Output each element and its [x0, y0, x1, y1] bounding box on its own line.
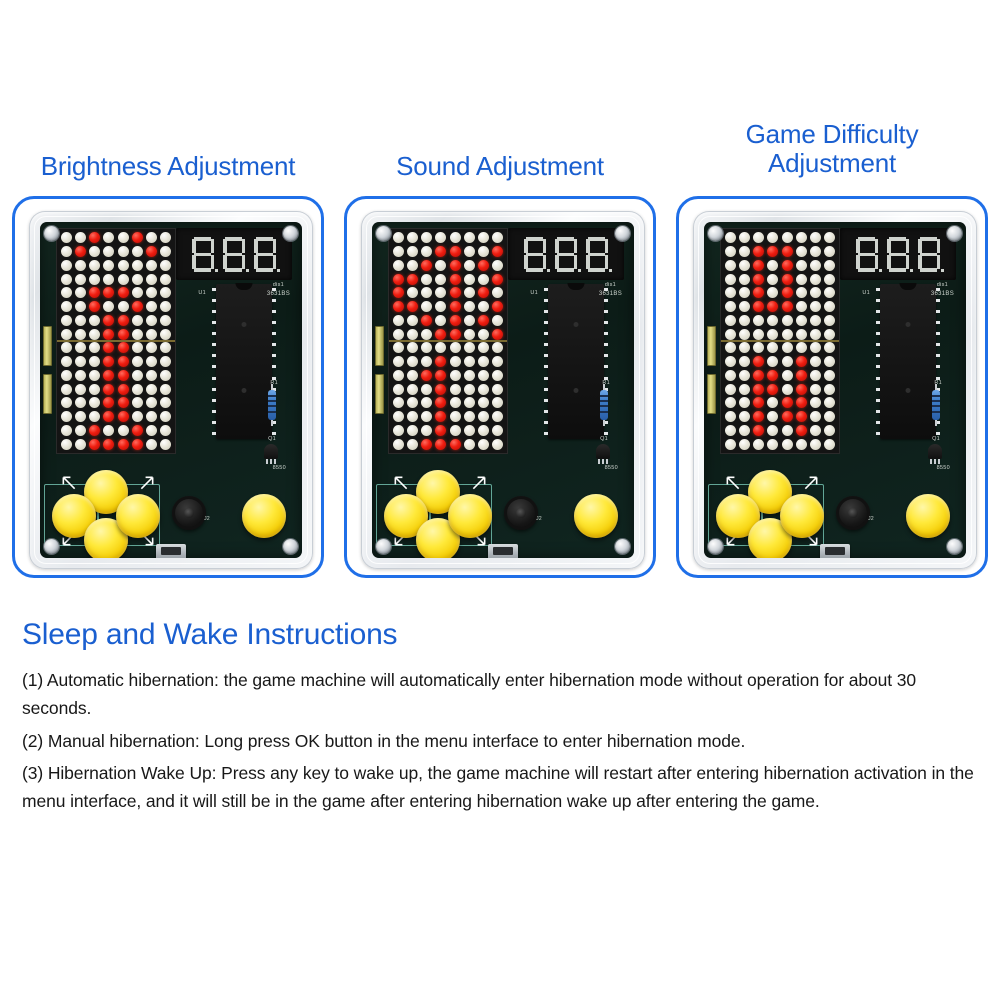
usb-port-2[interactable]: [820, 544, 850, 558]
led-r14c4: [116, 424, 130, 438]
seven-segment-digit-1: [553, 235, 579, 273]
seven-segment-bar: [937, 239, 941, 253]
led-r13c5: [130, 410, 144, 424]
led-r4c7: [491, 286, 505, 300]
led-r0c5: [794, 231, 808, 245]
led-r4c3: [102, 286, 116, 300]
led-r0c4: [448, 231, 462, 245]
led-r2c0: [723, 259, 737, 273]
seven-segment-bar: [605, 255, 609, 269]
led-r10c4: [780, 369, 794, 383]
led-r5c0: [391, 300, 405, 314]
led-r3c3: [766, 272, 780, 286]
led-r1c7: [491, 245, 505, 259]
led-r3c1: [405, 272, 419, 286]
led-r10c4: [116, 369, 130, 383]
usb-port-1[interactable]: [488, 544, 518, 558]
led-r12c2: [752, 396, 766, 410]
seven-segment-bar: [887, 239, 891, 253]
led-r11c1: [737, 382, 751, 396]
led-r6c6: [809, 314, 823, 328]
led-r1c5: [794, 245, 808, 259]
led-r15c2: [88, 437, 102, 451]
led-r1c0: [723, 245, 737, 259]
case-screw-top-right: [283, 226, 298, 241]
led-r4c6: [809, 286, 823, 300]
led-r13c0: [391, 410, 405, 424]
led-r12c3: [102, 396, 116, 410]
seven-segment-bar: [526, 253, 543, 257]
led-r7c6: [145, 327, 159, 341]
led-r6c4: [448, 314, 462, 328]
instruction-paragraph-1: (1) Automatic hibernation: the game mach…: [22, 666, 980, 723]
led-r6c2: [752, 314, 766, 328]
led-r4c0: [391, 286, 405, 300]
led-r9c5: [130, 355, 144, 369]
led-r5c2: [420, 300, 434, 314]
led-r11c7: [823, 382, 837, 396]
transistor-q1: [928, 444, 942, 459]
seven-segment-bar: [918, 255, 922, 269]
led-r13c0: [59, 410, 73, 424]
led-r4c2: [88, 286, 102, 300]
led-r3c0: [391, 272, 405, 286]
led-r7c4: [780, 327, 794, 341]
led-r7c6: [809, 327, 823, 341]
label-transistor-part: 8550: [937, 465, 950, 471]
led-r8c7: [159, 341, 173, 355]
dpad-right-button-0[interactable]: [116, 494, 160, 538]
led-r10c3: [766, 369, 780, 383]
led-r15c7: [159, 437, 173, 451]
led-r4c0: [59, 286, 73, 300]
label-transistor-ref: Q1: [932, 436, 940, 442]
led-r4c1: [73, 286, 87, 300]
led-r4c4: [448, 286, 462, 300]
led-matrix-sound: [388, 228, 508, 454]
device-frame-0: dis1 3631BS U1 R1 Q1: [12, 196, 324, 578]
seven-segment-bar: [586, 239, 590, 253]
seven-segment-display-0: [176, 228, 292, 280]
product-infographic: Brightness Adjustment dis1 3631BS: [0, 0, 1000, 1000]
led-r14c2: [752, 424, 766, 438]
led-r15c5: [794, 437, 808, 451]
label-ic-ref: U1: [198, 290, 206, 296]
led-r8c4: [116, 341, 130, 355]
led-r9c7: [491, 355, 505, 369]
seven-segment-bar: [586, 255, 590, 269]
led-r13c3: [102, 410, 116, 424]
edge-connector-strip-2: [375, 374, 384, 414]
led-r9c6: [809, 355, 823, 369]
seven-segment-bar: [524, 255, 528, 269]
led-r7c1: [405, 327, 419, 341]
led-r1c2: [752, 245, 766, 259]
led-r7c7: [491, 327, 505, 341]
led-r12c2: [88, 396, 102, 410]
led-r5c1: [405, 300, 419, 314]
led-r3c4: [116, 272, 130, 286]
led-r2c0: [391, 259, 405, 273]
label-resistor-ref: R1: [934, 380, 942, 386]
led-r6c1: [737, 314, 751, 328]
seven-segment-bar: [192, 239, 196, 253]
label-ic-ref: U1: [862, 290, 870, 296]
seven-segment-bar: [194, 253, 211, 257]
led-r12c5: [462, 396, 476, 410]
case-screw-bottom-right: [615, 539, 630, 554]
led-r12c5: [130, 396, 144, 410]
led-r13c6: [145, 410, 159, 424]
led-r5c6: [477, 300, 491, 314]
led-r6c7: [823, 314, 837, 328]
led-r11c4: [448, 382, 462, 396]
led-r2c2: [752, 259, 766, 273]
led-r2c4: [780, 259, 794, 273]
usb-port-0[interactable]: [156, 544, 186, 558]
ic-marking-dot: [574, 322, 579, 327]
seven-segment-bar: [526, 268, 543, 272]
led-r12c1: [405, 396, 419, 410]
label-usb-ref: J2: [868, 516, 874, 522]
seven-segment-bar: [254, 255, 258, 269]
led-r6c6: [145, 314, 159, 328]
led-r0c4: [780, 231, 794, 245]
led-r1c6: [145, 245, 159, 259]
led-r7c0: [391, 327, 405, 341]
led-r13c7: [823, 410, 837, 424]
led-r6c7: [491, 314, 505, 328]
led-r13c4: [116, 410, 130, 424]
led-r1c0: [59, 245, 73, 259]
pcb-board-0: dis1 3631BS U1 R1 Q1: [40, 222, 302, 558]
led-r2c6: [809, 259, 823, 273]
led-r11c5: [794, 382, 808, 396]
seven-segment-bar: [574, 239, 578, 253]
led-r11c5: [130, 382, 144, 396]
led-r2c6: [477, 259, 491, 273]
edge-connector-strip-1: [707, 326, 716, 366]
led-r7c7: [823, 327, 837, 341]
buzzer-speaker-2: [836, 496, 870, 530]
led-r10c2: [752, 369, 766, 383]
led-r10c3: [102, 369, 116, 383]
led-r4c0: [723, 286, 737, 300]
led-r1c7: [159, 245, 173, 259]
seven-segment-bar: [225, 253, 242, 257]
led-r7c3: [766, 327, 780, 341]
led-r4c2: [420, 286, 434, 300]
led-r9c7: [159, 355, 173, 369]
led-r10c5: [794, 369, 808, 383]
led-r5c3: [102, 300, 116, 314]
seven-segment-bar: [194, 237, 211, 241]
led-r2c2: [420, 259, 434, 273]
led-r0c1: [405, 231, 419, 245]
led-r2c3: [434, 259, 448, 273]
led-r10c0: [59, 369, 73, 383]
led-r3c6: [145, 272, 159, 286]
led-r14c1: [73, 424, 87, 438]
led-r8c7: [491, 341, 505, 355]
seven-segment-bar: [588, 237, 605, 241]
led-r8c0: [391, 341, 405, 355]
seven-segment-bar: [906, 255, 910, 269]
led-r10c4: [448, 369, 462, 383]
led-r15c1: [405, 437, 419, 451]
seven-segment-digit-2: [916, 235, 942, 273]
led-r1c5: [130, 245, 144, 259]
led-r15c1: [737, 437, 751, 451]
led-r14c2: [420, 424, 434, 438]
led-r12c0: [391, 396, 405, 410]
led-r4c5: [794, 286, 808, 300]
led-r15c2: [752, 437, 766, 451]
led-r4c5: [130, 286, 144, 300]
led-r7c3: [102, 327, 116, 341]
led-r6c3: [766, 314, 780, 328]
led-r0c0: [723, 231, 737, 245]
led-r11c3: [102, 382, 116, 396]
led-r0c0: [391, 231, 405, 245]
led-r2c1: [405, 259, 419, 273]
label-display-ref: dis1: [937, 282, 948, 288]
led-r5c3: [766, 300, 780, 314]
led-r8c2: [88, 341, 102, 355]
led-r5c7: [491, 300, 505, 314]
led-r6c5: [130, 314, 144, 328]
case-screw-bottom-left: [44, 539, 59, 554]
seven-segment-bar: [588, 253, 605, 257]
label-transistor-ref: Q1: [268, 436, 276, 442]
led-r2c6: [145, 259, 159, 273]
seven-segment-bar: [223, 255, 227, 269]
led-r6c2: [88, 314, 102, 328]
led-r11c6: [809, 382, 823, 396]
led-r0c4: [116, 231, 130, 245]
case-screw-bottom-right: [283, 539, 298, 554]
led-r13c4: [780, 410, 794, 424]
ic-notch-icon: [236, 283, 253, 290]
led-r9c5: [462, 355, 476, 369]
led-r9c0: [391, 355, 405, 369]
device-frame-2: dis1 3631BS U1 R1 Q1: [676, 196, 988, 578]
led-r2c2: [88, 259, 102, 273]
led-r13c6: [477, 410, 491, 424]
led-r0c5: [462, 231, 476, 245]
led-r4c6: [145, 286, 159, 300]
seven-segment-bar: [557, 237, 574, 241]
led-r3c4: [780, 272, 794, 286]
led-r10c0: [391, 369, 405, 383]
led-r2c5: [462, 259, 476, 273]
led-r1c7: [823, 245, 837, 259]
transistor-q1: [264, 444, 278, 459]
led-r5c7: [159, 300, 173, 314]
seven-segment-bar: [856, 239, 860, 253]
seven-segment-bar: [256, 268, 273, 272]
led-r12c4: [116, 396, 130, 410]
led-r5c5: [462, 300, 476, 314]
seven-segment-digit-2: [584, 235, 610, 273]
led-r8c1: [73, 341, 87, 355]
case-screw-top-right: [947, 226, 962, 241]
led-r12c7: [491, 396, 505, 410]
label-transistor-part: 8550: [273, 465, 286, 471]
led-r6c0: [59, 314, 73, 328]
led-r5c4: [448, 300, 462, 314]
seven-segment-decimal-point: [879, 269, 883, 273]
seven-segment-bar: [920, 253, 937, 257]
led-r3c1: [73, 272, 87, 286]
acrylic-case-1: dis1 3631BS U1 R1 Q1: [361, 211, 645, 569]
led-r12c6: [477, 396, 491, 410]
led-r8c3: [766, 341, 780, 355]
led-r5c7: [823, 300, 837, 314]
seven-segment-bar: [557, 268, 574, 272]
ok-button-2[interactable]: [906, 494, 950, 538]
seven-segment-bar: [918, 239, 922, 253]
led-r13c1: [405, 410, 419, 424]
led-r6c1: [73, 314, 87, 328]
led-r13c2: [420, 410, 434, 424]
seven-segment-bar: [574, 255, 578, 269]
led-r9c3: [766, 355, 780, 369]
led-r4c6: [477, 286, 491, 300]
led-r8c2: [752, 341, 766, 355]
led-r12c3: [766, 396, 780, 410]
led-r10c2: [420, 369, 434, 383]
led-r12c6: [809, 396, 823, 410]
led-r1c6: [809, 245, 823, 259]
case-screw-top-left: [708, 226, 723, 241]
seven-segment-decimal-point: [547, 269, 551, 273]
led-r1c2: [88, 245, 102, 259]
led-r13c7: [491, 410, 505, 424]
led-r10c2: [88, 369, 102, 383]
led-r14c7: [823, 424, 837, 438]
led-r2c7: [159, 259, 173, 273]
seven-segment-bar: [557, 253, 574, 257]
led-r0c3: [766, 231, 780, 245]
led-r14c4: [780, 424, 794, 438]
led-r0c2: [752, 231, 766, 245]
led-r14c6: [809, 424, 823, 438]
ok-button-0[interactable]: [242, 494, 286, 538]
seven-segment-bar: [225, 268, 242, 272]
acrylic-case-2: dis1 3631BS U1 R1 Q1: [693, 211, 977, 569]
led-r12c7: [159, 396, 173, 410]
seven-segment-bar: [889, 253, 906, 257]
led-r9c6: [145, 355, 159, 369]
seven-segment-bar: [889, 237, 906, 241]
led-r10c1: [405, 369, 419, 383]
led-r0c7: [159, 231, 173, 245]
panel-title-2: Game Difficulty Adjustment: [672, 120, 992, 178]
led-r11c3: [434, 382, 448, 396]
led-r7c4: [116, 327, 130, 341]
led-r7c5: [794, 327, 808, 341]
led-r9c3: [434, 355, 448, 369]
case-screw-bottom-left: [376, 539, 391, 554]
led-r13c3: [434, 410, 448, 424]
led-r1c0: [391, 245, 405, 259]
led-r9c0: [723, 355, 737, 369]
ok-button-1[interactable]: [574, 494, 618, 538]
seven-segment-bar: [242, 239, 246, 253]
seven-segment-bar: [588, 268, 605, 272]
led-r2c5: [794, 259, 808, 273]
seven-segment-bar: [543, 239, 547, 253]
microcontroller-ic-1: [548, 284, 604, 439]
led-r1c1: [737, 245, 751, 259]
led-r9c3: [102, 355, 116, 369]
led-r5c5: [130, 300, 144, 314]
seven-segment-decimal-point: [941, 269, 945, 273]
led-r7c1: [737, 327, 751, 341]
instructions-heading: Sleep and Wake Instructions: [22, 618, 980, 652]
led-r12c7: [823, 396, 837, 410]
led-r15c7: [823, 437, 837, 451]
led-r9c4: [116, 355, 130, 369]
acrylic-case-0: dis1 3631BS U1 R1 Q1: [29, 211, 313, 569]
edge-connector-strip-2: [707, 374, 716, 414]
led-r13c4: [448, 410, 462, 424]
led-r8c5: [794, 341, 808, 355]
seven-segment-bar: [194, 268, 211, 272]
led-r8c1: [737, 341, 751, 355]
led-r12c3: [434, 396, 448, 410]
led-r14c1: [737, 424, 751, 438]
label-display-part: 3631BS: [599, 291, 622, 297]
dpad-right-button-2[interactable]: [780, 494, 824, 538]
led-r14c5: [462, 424, 476, 438]
led-r2c4: [448, 259, 462, 273]
led-r8c4: [780, 341, 794, 355]
led-r10c3: [434, 369, 448, 383]
led-r8c0: [59, 341, 73, 355]
led-r11c0: [391, 382, 405, 396]
dpad-right-button-1[interactable]: [448, 494, 492, 538]
led-r6c4: [780, 314, 794, 328]
led-r1c4: [448, 245, 462, 259]
led-r15c2: [420, 437, 434, 451]
led-r14c5: [794, 424, 808, 438]
led-r0c3: [434, 231, 448, 245]
led-r11c2: [88, 382, 102, 396]
led-r7c2: [88, 327, 102, 341]
ic-marking-dot: [906, 322, 911, 327]
led-r8c5: [130, 341, 144, 355]
seven-segment-bar: [875, 255, 879, 269]
led-r3c5: [794, 272, 808, 286]
seven-segment-bar: [858, 237, 875, 241]
ic-marking-dot: [906, 388, 911, 393]
edge-connector-strip-1: [375, 326, 384, 366]
led-r14c6: [145, 424, 159, 438]
led-r12c0: [723, 396, 737, 410]
seven-segment-digit-0: [190, 235, 216, 273]
led-r5c5: [794, 300, 808, 314]
led-r0c5: [130, 231, 144, 245]
seven-segment-decimal-point: [609, 269, 613, 273]
led-r5c0: [59, 300, 73, 314]
led-r9c5: [794, 355, 808, 369]
led-r14c7: [159, 424, 173, 438]
buzzer-speaker-1: [504, 496, 538, 530]
led-r4c7: [823, 286, 837, 300]
led-r9c0: [59, 355, 73, 369]
